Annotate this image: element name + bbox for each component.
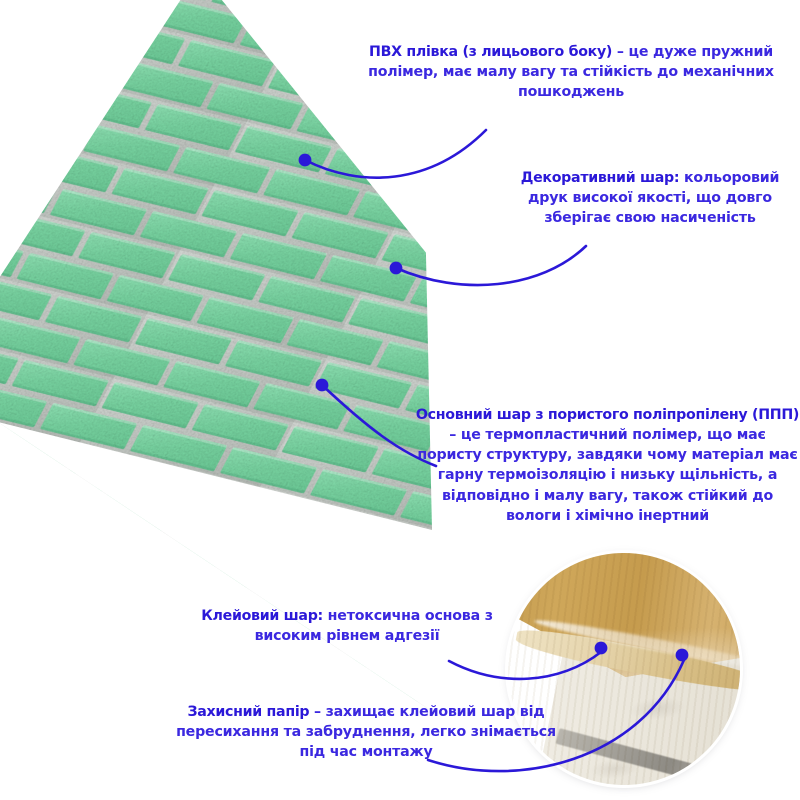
- callout-adhesive-layer: Клейовий шар: нетоксична основа з високи…: [188, 606, 506, 646]
- callout-porous-core: Основний шар з пористого поліпропілену (…: [415, 405, 800, 526]
- callout-pvc-film-title: ПВХ плівка (з лицьового боку): [369, 44, 612, 60]
- callout-decorative-layer-title: Декоративний шар:: [521, 170, 680, 186]
- brick-panel-image: [0, 0, 560, 710]
- callout-adhesive-layer-title: Клейовий шар:: [201, 608, 323, 624]
- callout-porous-core-title: Основний шар з пористого поліпропілену (…: [416, 407, 799, 423]
- callout-protective-paper-title: Захисний папір: [187, 704, 309, 720]
- infographic-canvas: ПВХ плівка (з лицьового боку) – це дуже …: [0, 0, 800, 800]
- brick-panel-svg: [0, 0, 560, 710]
- callout-decorative-layer: Декоративний шар: кольоровий друк високо…: [505, 168, 795, 228]
- callout-pvc-film: ПВХ плівка (з лицьового боку) – це дуже …: [356, 42, 786, 102]
- callout-porous-core-body: це термопластичний полімер, що має порис…: [417, 427, 797, 524]
- callout-protective-paper-separator: –: [309, 704, 325, 720]
- callout-porous-core-separator: –: [449, 427, 461, 443]
- callout-protective-paper: Захисний папір – захищає клейовий шар ві…: [166, 702, 566, 762]
- callout-pvc-film-separator: –: [612, 44, 628, 60]
